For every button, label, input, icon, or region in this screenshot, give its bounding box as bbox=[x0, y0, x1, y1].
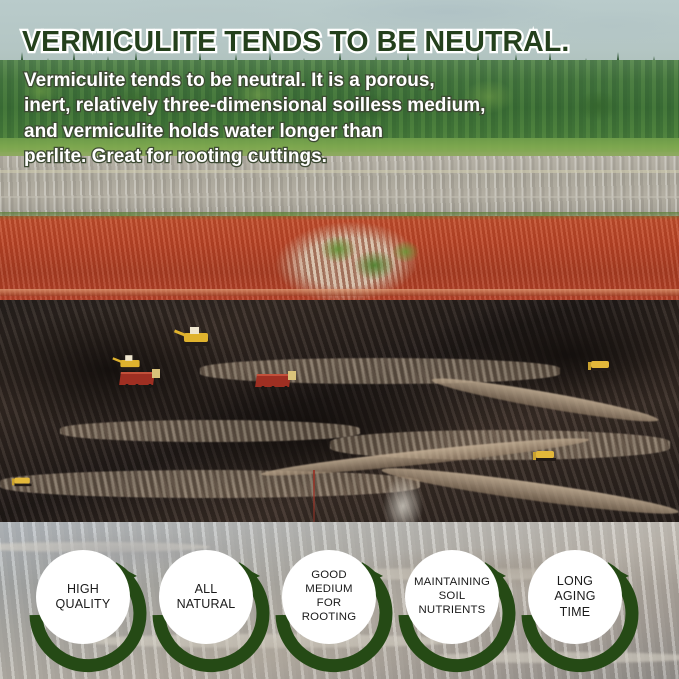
flow-node-label: GOOD MEDIUM FOR ROOTING bbox=[296, 569, 363, 625]
excavator-machine bbox=[116, 358, 145, 371]
flow-node-good-medium-for-rooting[interactable]: GOOD MEDIUM FOR ROOTING bbox=[282, 550, 376, 644]
pit-bench bbox=[200, 358, 560, 384]
flow-node-label: LONG AGING TIME bbox=[548, 574, 601, 620]
body-line-1: Vermiculite tends to be neutral. It is a… bbox=[24, 68, 494, 93]
body-paragraph: Vermiculite tends to be neutral. It is a… bbox=[24, 68, 494, 169]
page-title: VERMICULITE TENDS TO BE NEUTRAL. bbox=[22, 28, 662, 58]
flow-node-maintaining-soil-nutrients[interactable]: MAINTAINING SOIL NUTRIENTS bbox=[405, 550, 499, 644]
vermiculite-infographic-poster: VERMICULITE TENDS TO BE NEUTRAL. Vermicu… bbox=[0, 0, 679, 679]
pit-bench bbox=[60, 420, 360, 442]
red-laterite-bench bbox=[0, 216, 679, 302]
pit-bench bbox=[0, 470, 420, 498]
bench-ledge bbox=[0, 289, 679, 296]
flow-node-label: ALL NATURAL bbox=[171, 582, 242, 613]
body-line-3: and vermiculite holds water longer than bbox=[24, 119, 494, 144]
body-line-2: inert, relatively three-dimensional soil… bbox=[24, 93, 494, 118]
dump-truck-machine bbox=[120, 372, 160, 389]
coal-pit-floor bbox=[0, 300, 679, 524]
dump-truck-machine bbox=[256, 374, 296, 391]
bench-scrub-vegetation bbox=[299, 230, 429, 294]
flow-node-long-aging-time[interactable]: LONG AGING TIME bbox=[528, 550, 622, 644]
bulldozer-machine bbox=[12, 477, 34, 486]
flow-node-all-natural[interactable]: ALL NATURAL bbox=[159, 550, 253, 644]
bulldozer-machine bbox=[533, 450, 559, 461]
body-line-4: perlite. Great for rooting cuttings. bbox=[24, 144, 494, 169]
bulldozer-machine bbox=[588, 360, 614, 371]
flow-node-label: MAINTAINING SOIL NUTRIENTS bbox=[408, 576, 496, 618]
flow-node-high-quality[interactable]: HIGH QUALITY bbox=[36, 550, 130, 644]
process-flow-diagram: HIGH QUALITY ALL NATURAL GOOD MEDIUM FOR… bbox=[0, 522, 679, 679]
flow-node-label: HIGH QUALITY bbox=[50, 582, 117, 613]
excavator-machine bbox=[178, 330, 214, 346]
